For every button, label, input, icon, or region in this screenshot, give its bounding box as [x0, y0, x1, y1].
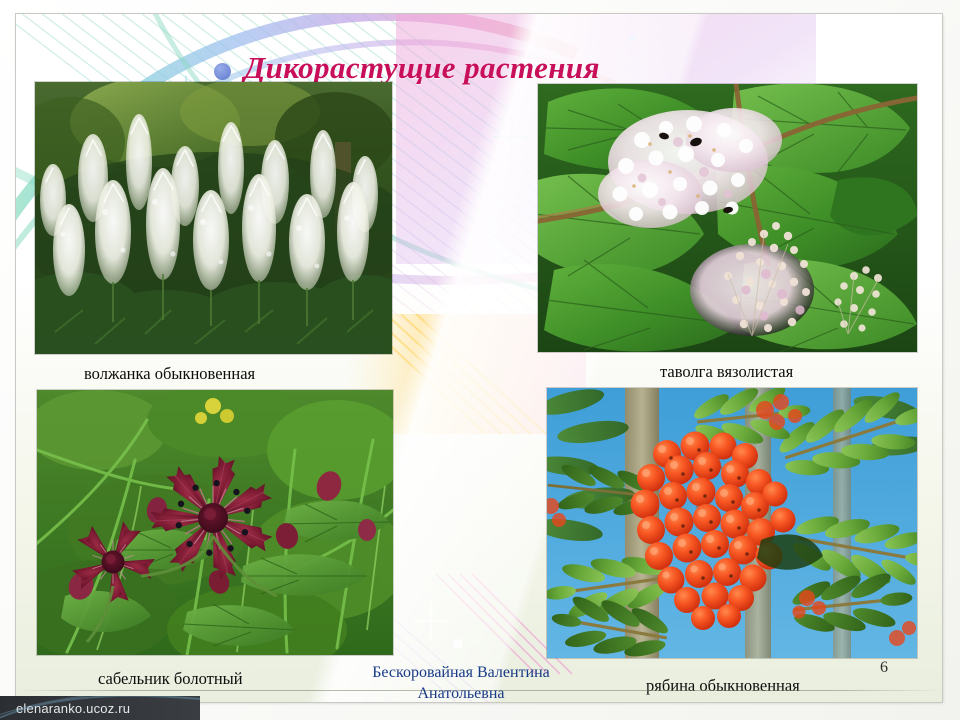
caption-tavolga: таволга вязолистая [660, 362, 793, 382]
slide-inner-frame: Дикорастущие растения [16, 14, 942, 702]
author-line-1: Бескоровайная Валентина [316, 662, 606, 683]
watermark-arc-decoration [0, 696, 200, 720]
photo-tavolga [538, 84, 917, 352]
caption-volzhanka: волжанка обыкновенная [84, 364, 255, 384]
photo-sabelnik [37, 390, 393, 655]
author-credit: Бескоровайная Валентина Анатольевна [316, 662, 606, 702]
title-band: Дикорастущие растения [16, 30, 942, 82]
caption-ryabina: рябина обыкновенная [646, 676, 800, 696]
page-title: Дикорастущие растения [244, 50, 804, 86]
author-line-2: Анатольевна [316, 683, 606, 702]
site-watermark-bar: elenaranko.ucoz.ru [0, 696, 200, 720]
bullet-dot-icon [214, 63, 231, 80]
page-number: 6 [880, 659, 888, 677]
photo-volzhanka [35, 82, 392, 354]
presentation-slide: Дикорастущие растения [0, 0, 960, 720]
caption-sabelnik: сабельник болотный [98, 669, 243, 689]
photo-ryabina [547, 388, 917, 658]
